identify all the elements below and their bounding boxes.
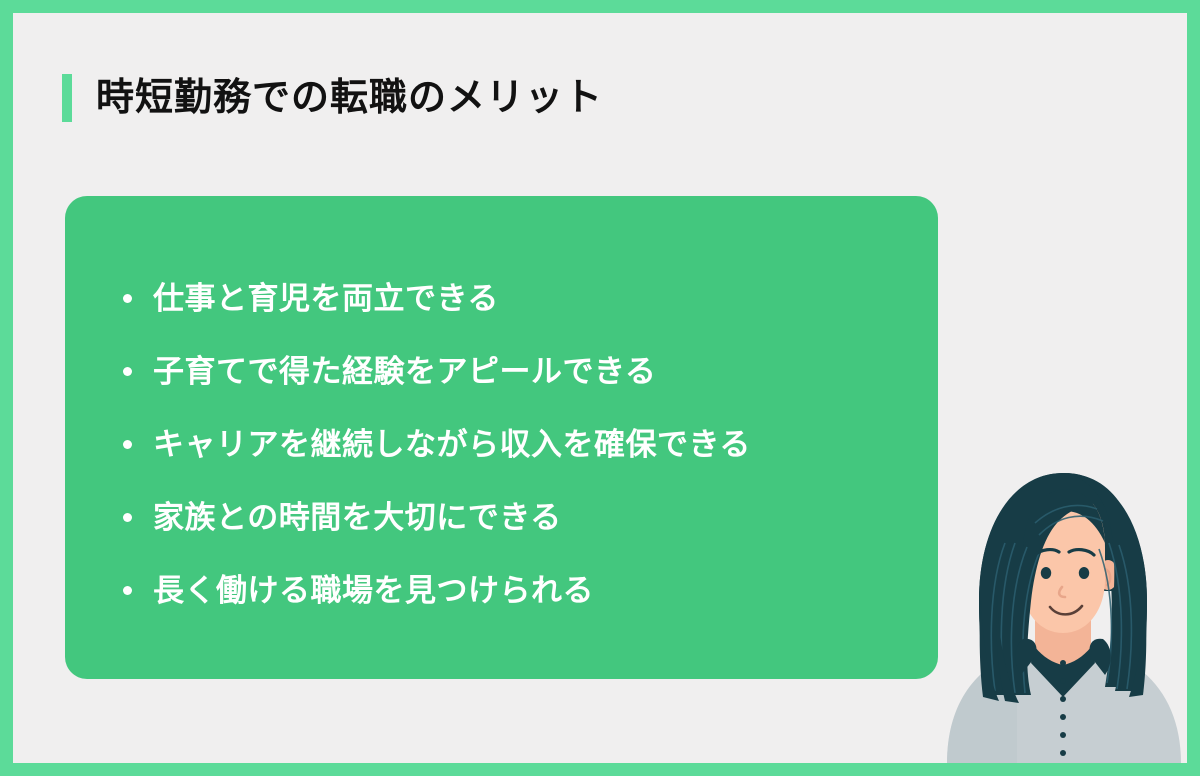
smiling-woman-illustration xyxy=(939,451,1187,763)
list-item: 長く働ける職場を見つけられる xyxy=(65,554,938,627)
bullet-dot-icon xyxy=(123,440,132,449)
shirt-button xyxy=(1060,696,1066,702)
list-item-label: 家族との時間を大切にできる xyxy=(153,502,562,533)
title-label: 時短勤務での転職のメリット xyxy=(96,79,603,117)
eye-right xyxy=(1079,567,1089,579)
shirt-button xyxy=(1060,714,1066,720)
list-item-label: 子育てで得た経験をアピールできる xyxy=(153,356,656,387)
list-item-label: キャリアを継続しながら収入を確保できる xyxy=(153,429,751,460)
bullet-dot-icon xyxy=(123,367,132,376)
slide-canvas: 時短勤務での転職のメリット 仕事と育児を両立できる 子育てで得た経験をアピールで… xyxy=(13,13,1187,763)
bullet-dot-icon xyxy=(123,586,132,595)
list-item: 子育てで得た経験をアピールできる xyxy=(65,335,938,408)
shirt-button xyxy=(1060,732,1066,738)
list-item: 家族との時間を大切にできる xyxy=(65,481,938,554)
list-item-label: 仕事と育児を両立できる xyxy=(153,283,499,314)
list-item: キャリアを継続しながら収入を確保できる xyxy=(65,408,938,481)
list-item: 仕事と育児を両立できる xyxy=(65,262,938,335)
list-item-label: 長く働ける職場を見つけられる xyxy=(153,575,594,606)
benefits-list: 仕事と育児を両立できる 子育てで得た経験をアピールできる キャリアを継続しながら… xyxy=(65,196,938,627)
title-accent-bar xyxy=(62,74,72,122)
eye-left xyxy=(1041,567,1051,579)
benefits-card: 仕事と育児を両立できる 子育てで得た経験をアピールできる キャリアを継続しながら… xyxy=(65,196,938,679)
shirt-button xyxy=(1060,678,1066,684)
slide-frame: 時短勤務での転職のメリット 仕事と育児を両立できる 子育てで得た経験をアピールで… xyxy=(0,0,1200,776)
bullet-dot-icon xyxy=(123,294,132,303)
shirt-button xyxy=(1060,750,1066,756)
page-title: 時短勤務での転職のメリット xyxy=(62,74,603,122)
bullet-dot-icon xyxy=(123,513,132,522)
shirt-button xyxy=(1060,660,1066,666)
